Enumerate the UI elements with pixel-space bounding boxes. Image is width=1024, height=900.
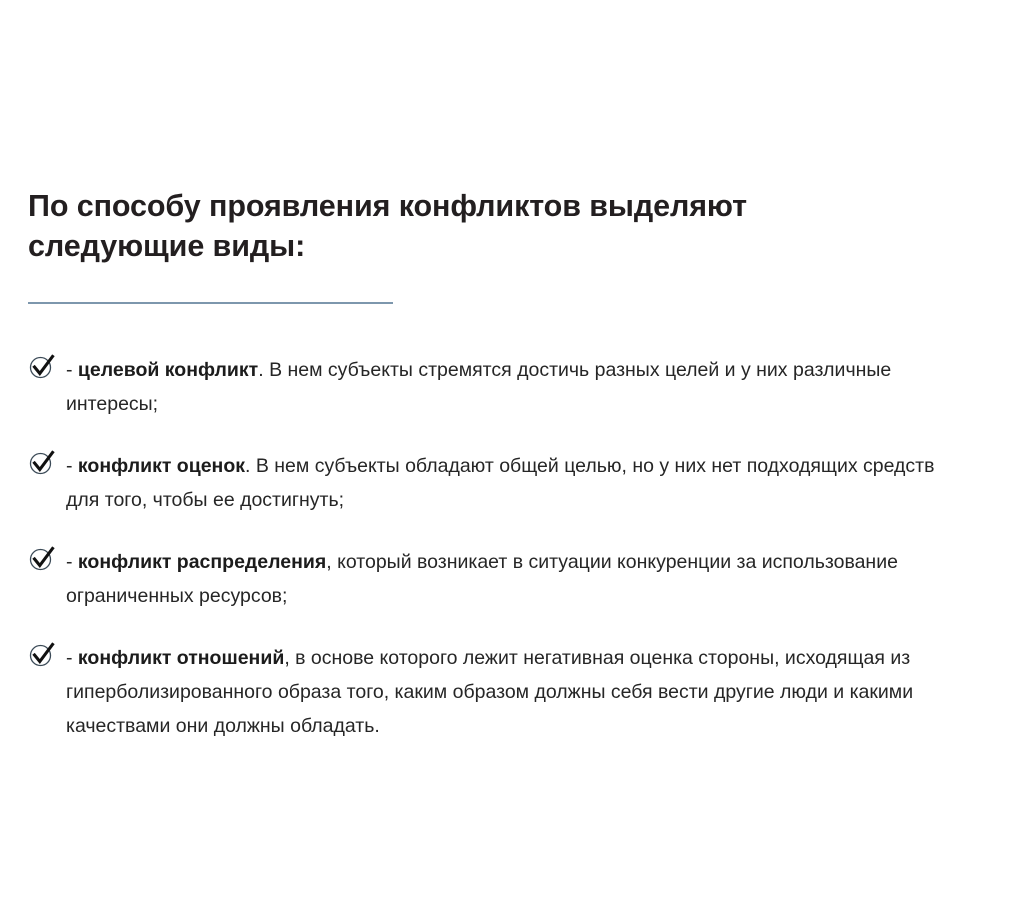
heading-divider [28, 302, 393, 304]
list-item: - конфликт отношений, в основе которого … [28, 640, 973, 743]
list-item-text: - конфликт оценок. В нем субъекты облада… [66, 448, 973, 517]
check-circle-icon [28, 448, 58, 476]
check-circle-icon [28, 544, 58, 572]
list-item: - конфликт оценок. В нем субъекты облада… [28, 448, 973, 517]
list-item-text: - целевой конфликт. В нем субъекты стрем… [66, 352, 973, 421]
list-item-dash: - [66, 551, 78, 573]
list-item: - конфликт распределения, который возник… [28, 544, 973, 613]
list-item-term: конфликт отношений [78, 647, 284, 669]
check-circle-icon [28, 352, 58, 380]
page-title-line-2: следующие виды: [28, 226, 928, 266]
page-title-line-1: По способу проявления конфликтов выделяю… [28, 186, 928, 226]
list-item-dash: - [66, 455, 78, 477]
list-item-text: - конфликт распределения, который возник… [66, 544, 973, 613]
list-item-term: целевой конфликт [78, 359, 258, 381]
conflict-types-list: - целевой конфликт. В нем субъекты стрем… [28, 352, 973, 743]
list-item-dash: - [66, 359, 78, 381]
list-item-text: - конфликт отношений, в основе которого … [66, 640, 973, 743]
list-item: - целевой конфликт. В нем субъекты стрем… [28, 352, 973, 421]
page-title: По способу проявления конфликтов выделяю… [28, 186, 928, 266]
list-item-dash: - [66, 647, 78, 669]
check-circle-icon [28, 640, 58, 668]
list-item-term: конфликт оценок [78, 455, 245, 477]
slide-canvas: По способу проявления конфликтов выделяю… [0, 0, 1024, 900]
list-item-term: конфликт распределения [78, 551, 326, 573]
